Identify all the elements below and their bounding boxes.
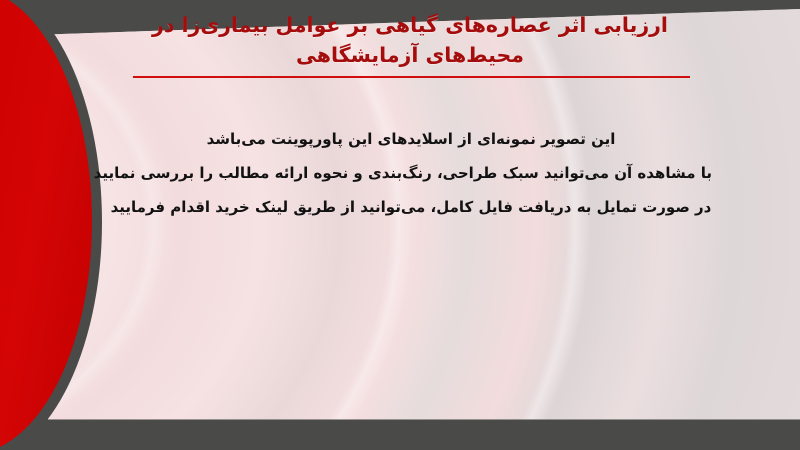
title-underline	[133, 76, 690, 78]
body-text: این تصویر نمونه‌ای از اسلایدهای این پاور…	[110, 122, 712, 224]
page-title: ارزیابی اثر عصاره‌های گیاهی بر عوامل بیم…	[110, 10, 710, 70]
title-line-2: محیط‌های آزمایشگاهی	[110, 40, 710, 70]
body-line-3: در صورت تمایل به دریافت فایل کامل، می‌تو…	[110, 190, 712, 224]
body-line-1: این تصویر نمونه‌ای از اسلایدهای این پاور…	[110, 122, 712, 156]
title-line-1: ارزیابی اثر عصاره‌های گیاهی بر عوامل بیم…	[110, 10, 710, 40]
slide-canvas: ارزیابی اثر عصاره‌های گیاهی بر عوامل بیم…	[0, 0, 800, 450]
body-line-2: با مشاهده آن می‌توانید سبک طراحی، رنگ‌بن…	[110, 156, 712, 190]
